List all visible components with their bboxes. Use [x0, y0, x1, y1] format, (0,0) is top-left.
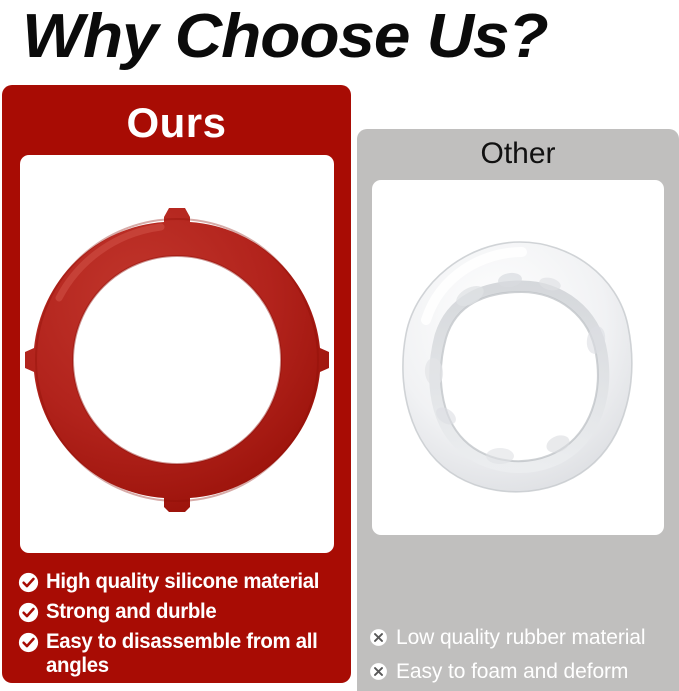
feature-text: Low quality rubber material — [396, 625, 645, 650]
list-item: Strong and durble — [18, 600, 341, 624]
ours-panel: Ours — [2, 85, 351, 683]
list-item: Easy to disassemble from all angles — [18, 630, 341, 678]
x-circle-icon — [369, 662, 388, 681]
other-heading: Other — [357, 137, 679, 171]
list-item: Low quality rubber material — [369, 625, 671, 650]
ours-product-card — [20, 155, 334, 553]
page-title: Why Choose Us? — [22, 2, 679, 72]
feature-text: Strengthened Seal Design — [46, 684, 291, 691]
feature-text: Easy to disassemble from all angles — [46, 630, 332, 678]
check-circle-icon — [18, 602, 39, 623]
feature-text: High quality silicone material — [46, 570, 319, 594]
feature-text: Strong and durble — [46, 600, 216, 624]
ours-feature-list: High quality silicone material Strong an… — [18, 570, 341, 691]
white-deformed-rubber-gasket-icon — [372, 180, 664, 535]
other-feature-list: Low quality rubber material Easy to foam… — [369, 625, 671, 691]
comparison-infographic: Why Choose Us? Ours — [0, 0, 679, 691]
other-panel: Other — [357, 129, 679, 691]
ours-heading: Ours — [2, 99, 351, 147]
check-circle-icon — [18, 632, 39, 653]
check-circle-icon — [18, 572, 39, 593]
list-item: Easy to foam and deform — [369, 659, 671, 684]
x-circle-icon — [369, 628, 388, 647]
red-silicone-gasket-ring-icon — [20, 155, 334, 553]
other-product-card — [372, 180, 664, 535]
check-circle-icon — [18, 686, 39, 691]
list-item: High quality silicone material — [18, 570, 341, 594]
list-item: Strengthened Seal Design — [18, 684, 341, 691]
feature-text: Easy to foam and deform — [396, 659, 628, 684]
